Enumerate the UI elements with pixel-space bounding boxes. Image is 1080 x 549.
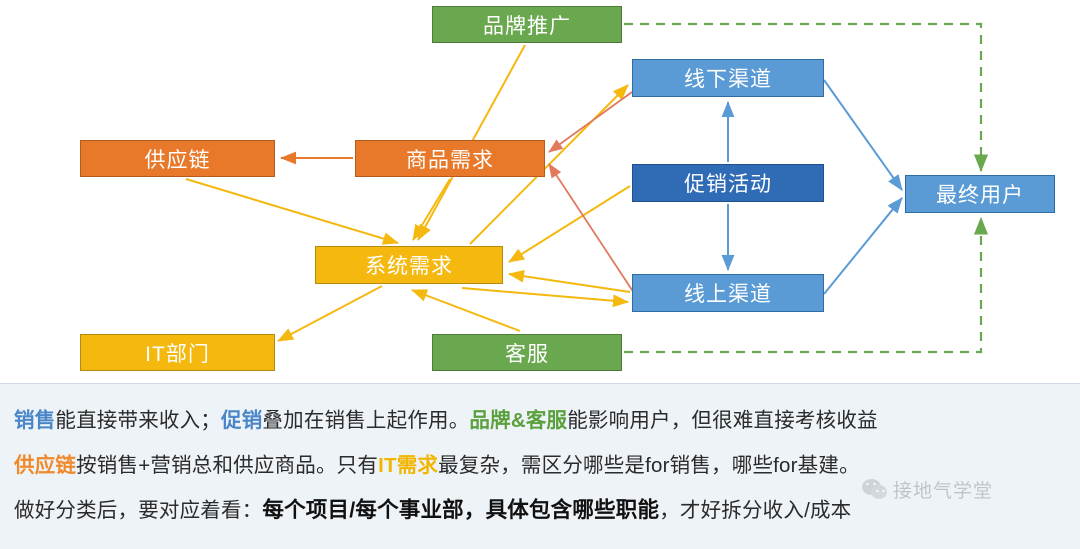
- note-text: 按销售+营销总和供应商品。只有: [76, 454, 378, 477]
- note-text: ，才好拆分收入/成本: [659, 499, 851, 522]
- node-offline-channel[interactable]: 线下渠道: [632, 59, 824, 97]
- note-line-2: 供应链按销售+营销总和供应商品。只有IT需求最复杂，需区分哪些是for销售，哪些…: [14, 443, 1066, 488]
- note-keyword-brand-service: 品牌&客服: [469, 409, 567, 432]
- edge-supply-to-sysreq: [186, 179, 398, 243]
- node-label: 最终用户: [936, 179, 1024, 209]
- note-text: 能直接带来收入；: [55, 409, 221, 432]
- node-label: 促销活动: [684, 168, 772, 198]
- note-text: 能影响用户，但很难直接考核收益: [567, 409, 878, 432]
- note-line-1: 销售能直接带来收入；促销叠加在销售上起作用。品牌&客服能影响用户，但很难直接考核…: [14, 398, 1066, 443]
- edge-online-to-goods: [549, 164, 636, 296]
- explanation-panel: 销售能直接带来收入；促销叠加在销售上起作用。品牌&客服能影响用户，但很难直接考核…: [0, 383, 1080, 549]
- node-online-channel[interactable]: 线上渠道: [632, 274, 824, 312]
- node-brand-promotion[interactable]: 品牌推广: [432, 6, 622, 43]
- node-promotion-activity[interactable]: 促销活动: [632, 164, 824, 202]
- node-label: 线上渠道: [684, 278, 772, 308]
- note-text: 做好分类后，要对应着看：: [14, 499, 262, 522]
- node-end-user[interactable]: 最终用户: [905, 175, 1055, 213]
- node-label: 品牌推广: [483, 10, 571, 40]
- node-label: IT部门: [145, 338, 210, 368]
- note-keyword-supply-chain: 供应链: [14, 454, 76, 477]
- note-keyword-promotion: 促销: [221, 409, 262, 432]
- edge-offline-to-goods: [549, 92, 632, 152]
- node-label: 系统需求: [365, 250, 453, 280]
- note-line-3: 做好分类后，要对应着看：每个项目/每个事业部，具体包含哪些职能，才好拆分收入/成…: [14, 488, 1066, 533]
- flow-diagram-canvas: 品牌推广 线下渠道 供应链 商品需求 促销活动 最终用户 系统需求 线上渠道 I…: [0, 0, 1080, 383]
- node-label: 客服: [505, 338, 549, 368]
- node-it-department[interactable]: IT部门: [80, 334, 275, 371]
- edge-goods-to-sysreq: [413, 179, 450, 240]
- edge-brand-to-enduser: [624, 24, 981, 171]
- edge-sysreq-to-online: [462, 288, 628, 302]
- edge-service-to-sysreq: [412, 290, 520, 331]
- edge-online-to-enduser: [824, 198, 902, 294]
- node-goods-demand[interactable]: 商品需求: [355, 140, 545, 177]
- note-text: 叠加在销售上起作用。: [262, 409, 469, 432]
- node-label: 供应链: [145, 144, 211, 174]
- node-label: 线下渠道: [684, 63, 772, 93]
- node-system-requirement[interactable]: 系统需求: [315, 246, 503, 284]
- edge-offline-to-enduser: [824, 80, 902, 190]
- edge-online-to-sysreq: [509, 274, 630, 292]
- note-text: 最复杂，需区分哪些是for销售，哪些for基建。: [438, 454, 860, 477]
- edge-promo-to-sysreq: [509, 186, 630, 262]
- edge-itdept-to-sysreq: [278, 286, 382, 341]
- node-supply-chain[interactable]: 供应链: [80, 140, 275, 177]
- note-keyword-sales: 销售: [14, 409, 55, 432]
- diagram-page: 品牌推广 线下渠道 供应链 商品需求 促销活动 最终用户 系统需求 线上渠道 I…: [0, 0, 1080, 549]
- note-emphasis: 每个项目/每个事业部，具体包含哪些职能: [262, 498, 659, 522]
- note-keyword-it-demand: IT需求: [378, 454, 438, 477]
- node-customer-service[interactable]: 客服: [432, 334, 622, 371]
- node-label: 商品需求: [406, 144, 494, 174]
